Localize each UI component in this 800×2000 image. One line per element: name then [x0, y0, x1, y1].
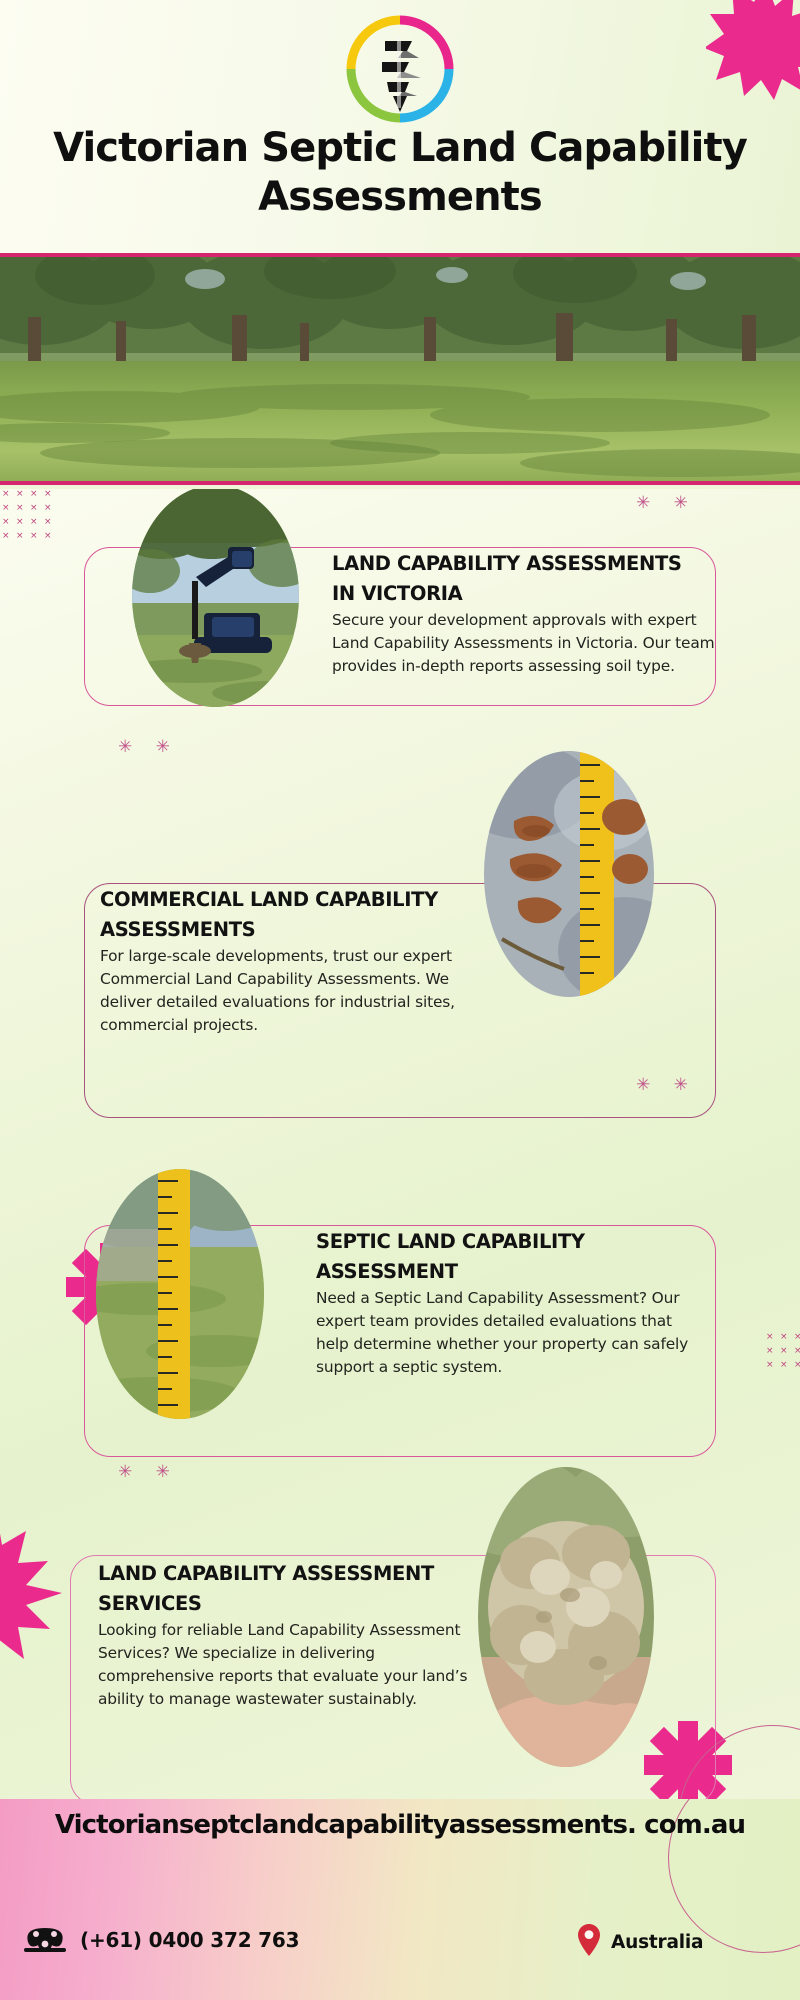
contact-row: (+61) 0400 372 763 Australia: [0, 1922, 800, 1972]
x-mark-icon: ×: [794, 1334, 800, 1341]
x-mark-icon: ×: [30, 519, 37, 526]
telephone-icon: [24, 1922, 66, 1957]
x-mark-icon: ×: [2, 533, 9, 540]
card-3-image: [96, 1169, 264, 1419]
card-2-heading: COMMERCIAL LAND CAPABILITY ASSESSMENTS: [100, 885, 470, 944]
map-pin-icon: [578, 1924, 600, 1961]
x-mark-icon: ×: [30, 491, 37, 498]
logo-ring-green: [351, 69, 400, 118]
auger-glyph: [382, 36, 421, 112]
hero-image: [0, 253, 800, 485]
card-1-image: [132, 489, 299, 707]
x-mark-icon: ×: [44, 491, 51, 498]
logo: [341, 10, 459, 128]
x-mark-icon: ×: [16, 519, 23, 526]
header: Victorian Septic Land Capability Assessm…: [0, 0, 800, 253]
x-mark-icon: ×: [794, 1362, 800, 1369]
starburst-decoration-left-bottom: [0, 1501, 72, 1676]
page-title: Victorian Septic Land Capability Assessm…: [0, 124, 800, 222]
card-1-heading: LAND CAPABILITY ASSESSMENTS IN VICTORIA: [332, 549, 710, 608]
phone-block[interactable]: (+61) 0400 372 763: [24, 1922, 299, 1957]
card-3-heading: SEPTIC LAND CAPABILITY ASSESSMENT: [316, 1227, 694, 1286]
x-mark-icon: ×: [16, 505, 23, 512]
card-4-body: Looking for reliable Land Capability Ass…: [98, 1619, 478, 1711]
x-mark-icon: ×: [2, 491, 9, 498]
card-4-heading: LAND CAPABILITY ASSESSMENT SERVICES: [98, 1559, 450, 1618]
card-4-image: [478, 1467, 654, 1767]
x-mark-icon: ×: [780, 1362, 787, 1369]
location-block: Australia: [578, 1924, 703, 1961]
footer: Victorianseptclandcapabilityassessments.…: [0, 1799, 800, 2000]
x-grid-decoration-right: ××× ××× ×××: [766, 1334, 800, 1369]
website-url[interactable]: Victorianseptclandcapabilityassessments.…: [0, 1808, 800, 1843]
x-mark-icon: ×: [766, 1334, 773, 1341]
x-grid-decoration-top-left: ×××× ×××× ×××× ××××: [2, 491, 51, 540]
card-2-body: For large-scale developments, trust our …: [100, 945, 478, 1037]
location-label: Australia: [611, 1932, 703, 1953]
x-mark-icon: ×: [794, 1348, 800, 1355]
x-mark-icon: ×: [766, 1348, 773, 1355]
x-mark-icon: ×: [16, 491, 23, 498]
x-mark-icon: ×: [30, 533, 37, 540]
x-mark-icon: ×: [16, 533, 23, 540]
infographic-page: Victorian Septic Land Capability Assessm…: [0, 0, 800, 2000]
content-area: ×××× ×××× ×××× ×××× ××× ××× ××× ✳ ✳ ✳ ✳ …: [0, 489, 800, 1799]
x-mark-icon: ×: [30, 505, 37, 512]
x-mark-icon: ×: [780, 1348, 787, 1355]
mini-asterisk-decoration-1: ✳ ✳: [636, 495, 697, 512]
mini-asterisk-decoration-2: ✳ ✳: [118, 739, 179, 756]
x-mark-icon: ×: [766, 1362, 773, 1369]
card-1-body: Secure your development approvals with e…: [332, 609, 718, 678]
x-mark-icon: ×: [2, 505, 9, 512]
mini-asterisk-decoration-4: ✳ ✳: [118, 1464, 179, 1481]
phone-number: (+61) 0400 372 763: [80, 1928, 299, 1952]
starburst-decoration-top-right: [706, 0, 800, 100]
x-mark-icon: ×: [44, 533, 51, 540]
card-2-image: [484, 751, 654, 997]
x-mark-icon: ×: [2, 519, 9, 526]
x-mark-icon: ×: [44, 505, 51, 512]
card-3-body: Need a Septic Land Capability Assessment…: [316, 1287, 700, 1379]
x-mark-icon: ×: [44, 519, 51, 526]
x-mark-icon: ×: [780, 1334, 787, 1341]
